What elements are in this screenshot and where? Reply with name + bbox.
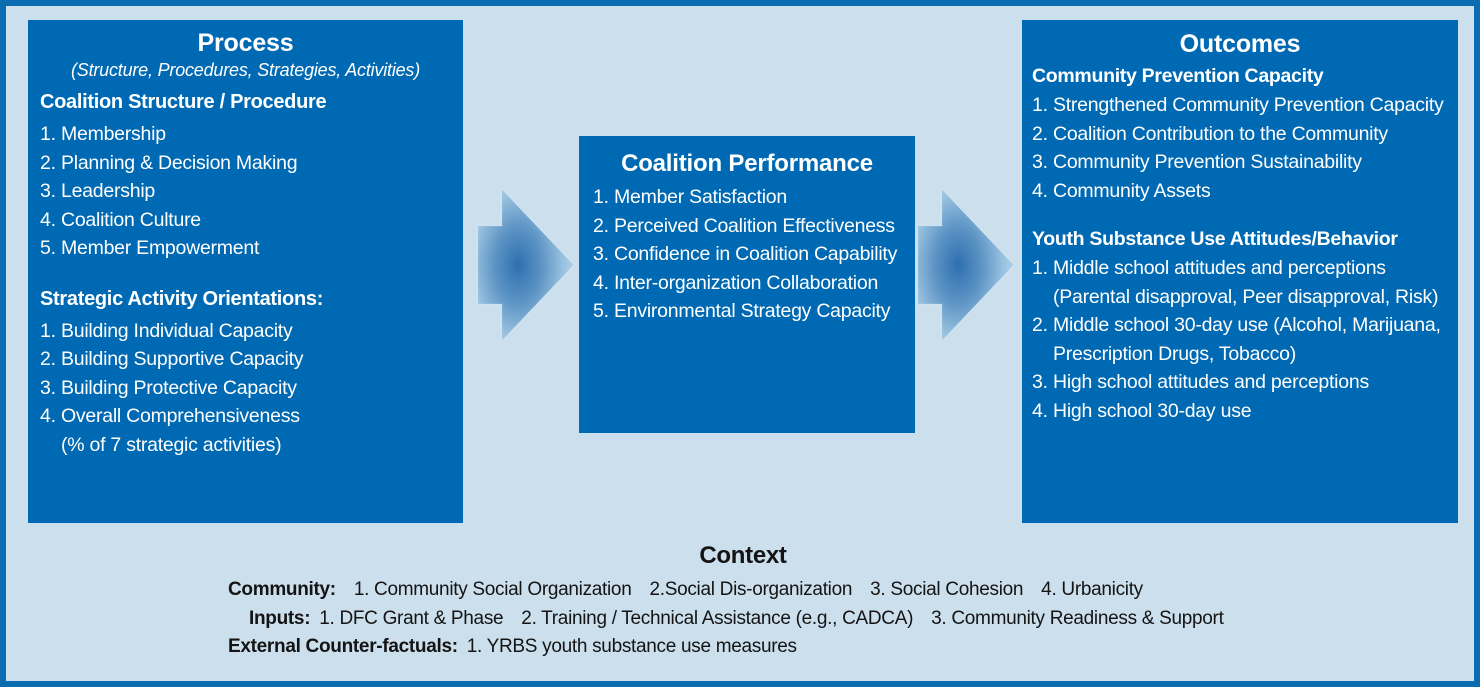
list-text: Environmental Strategy Capacity — [614, 297, 907, 326]
strategic-activity-heading: Strategic Activity Orientations: — [40, 285, 453, 314]
context-item: 2.Social Dis-organization — [649, 579, 852, 600]
spacer — [1032, 205, 1452, 225]
list-text: Confidence in Coalition Capability — [614, 240, 907, 269]
list-number: 2. — [1032, 311, 1048, 340]
list-number: 1. — [1032, 91, 1048, 120]
community-prevention-capacity-heading: Community Prevention Capacity — [1032, 62, 1452, 90]
list-item: 4.High school 30-day use — [1032, 397, 1452, 426]
list-item: 1.Building Individual Capacity — [40, 317, 453, 346]
list-text: Middle school 30-day use (Alcohol, Marij… — [1053, 311, 1452, 368]
performance-to-outcomes-arrow — [914, 184, 1018, 346]
list-text: Building Supportive Capacity — [61, 345, 453, 374]
list-item: 3.High school attitudes and perceptions — [1032, 368, 1452, 397]
outcomes-title: Outcomes — [1022, 28, 1458, 60]
spacer — [40, 263, 453, 285]
context-rows: Community:1. Community Social Organizati… — [12, 576, 1474, 662]
process-body: Coalition Structure / Procedure 1.Member… — [28, 83, 463, 459]
list-item: 3.Community Prevention Sustainability — [1032, 148, 1452, 177]
arrow-right-icon — [474, 184, 578, 346]
list-number: 1. — [40, 120, 56, 149]
coalition-performance-list: 1.Member Satisfaction 2.Perceived Coalit… — [593, 183, 907, 326]
context-item: 4. Urbanicity — [1041, 579, 1143, 600]
list-item: 4.Overall Comprehensiveness (% of 7 stra… — [40, 402, 453, 459]
list-text: Community Prevention Sustainability — [1053, 148, 1452, 177]
list-number: 2. — [593, 212, 609, 241]
context-row-community: Community:1. Community Social Organizati… — [228, 576, 1474, 605]
list-text: Middle school attitudes and perceptions … — [1053, 254, 1452, 311]
list-item: 2.Building Supportive Capacity — [40, 345, 453, 374]
list-number: 3. — [1032, 148, 1048, 177]
context-row-label: External Counter-factuals: — [228, 636, 458, 657]
list-number: 5. — [40, 234, 56, 263]
list-number: 3. — [1032, 368, 1048, 397]
context-item: 2. Training / Technical Assistance (e.g.… — [521, 608, 913, 629]
list-item: 5.Member Empowerment — [40, 234, 453, 263]
context-title: Context — [12, 541, 1474, 571]
coalition-performance-title: Coalition Performance — [579, 148, 915, 180]
list-number: 1. — [40, 317, 56, 346]
context-section: Context Community:1. Community Social Or… — [12, 533, 1474, 681]
youth-substance-use-list: 1.Middle school attitudes and perception… — [1032, 254, 1452, 425]
list-item: 2.Coalition Contribution to the Communit… — [1032, 120, 1452, 149]
list-text: Leadership — [61, 177, 453, 206]
list-text: Coalition Contribution to the Community — [1053, 120, 1452, 149]
context-row-external-counter-factuals: External Counter-factuals:1. YRBS youth … — [228, 633, 1474, 662]
coalition-structure-heading: Coalition Structure / Procedure — [40, 88, 453, 117]
youth-substance-use-heading: Youth Substance Use Attitudes/Behavior — [1032, 225, 1452, 253]
list-item: 1.Strengthened Community Prevention Capa… — [1032, 91, 1452, 120]
list-text: High school attitudes and perceptions — [1053, 368, 1452, 397]
process-panel: Process (Structure, Procedures, Strategi… — [28, 20, 463, 523]
list-number: 2. — [40, 149, 56, 178]
list-item: 3.Confidence in Coalition Capability — [593, 240, 907, 269]
context-row-inputs: Inputs:1. DFC Grant & Phase2. Training /… — [228, 605, 1474, 634]
list-number: 5. — [593, 297, 609, 326]
list-text: Planning & Decision Making — [61, 149, 453, 178]
coalition-performance-panel: Coalition Performance 1.Member Satisfact… — [579, 136, 915, 433]
context-item: 1. Community Social Organization — [354, 579, 632, 600]
coalition-performance-body: 1.Member Satisfaction 2.Perceived Coalit… — [579, 180, 915, 326]
list-item: 2.Middle school 30-day use (Alcohol, Mar… — [1032, 311, 1452, 368]
list-number: 1. — [1032, 254, 1048, 283]
process-subtitle: (Structure, Procedures, Strategies, Acti… — [28, 58, 463, 83]
context-item: 3. Social Cohesion — [870, 579, 1023, 600]
outcomes-body: Community Prevention Capacity 1.Strength… — [1022, 60, 1458, 425]
list-number: 3. — [40, 177, 56, 206]
arrow-right-icon — [914, 184, 1018, 346]
list-text: Building Protective Capacity — [61, 374, 453, 403]
list-text: Membership — [61, 120, 453, 149]
list-text: Member Empowerment — [61, 234, 453, 263]
list-text: High school 30-day use — [1053, 397, 1452, 426]
list-number: 1. — [593, 183, 609, 212]
outcomes-panel: Outcomes Community Prevention Capacity 1… — [1022, 20, 1458, 523]
list-number: 4. — [40, 206, 56, 235]
context-item: 1. YRBS youth substance use measures — [467, 636, 797, 657]
list-item: 4.Community Assets — [1032, 177, 1452, 206]
list-text: Overall Comprehensiveness (% of 7 strate… — [61, 402, 453, 459]
context-item: 3. Community Readiness & Support — [931, 608, 1223, 629]
list-item: 1.Membership — [40, 120, 453, 149]
list-text: Inter-organization Collaboration — [614, 269, 907, 298]
list-item: 3.Building Protective Capacity — [40, 374, 453, 403]
list-text: Perceived Coalition Effectiveness — [614, 212, 907, 241]
process-title: Process — [28, 28, 463, 58]
list-number: 2. — [40, 345, 56, 374]
coalition-structure-list: 1.Membership 2.Planning & Decision Makin… — [40, 120, 453, 263]
list-item: 2.Planning & Decision Making — [40, 149, 453, 178]
list-text: Building Individual Capacity — [61, 317, 453, 346]
diagram-canvas: Process (Structure, Procedures, Strategi… — [6, 6, 1474, 681]
list-number: 3. — [593, 240, 609, 269]
strategic-activity-list: 1.Building Individual Capacity 2.Buildin… — [40, 317, 453, 460]
list-number: 4. — [1032, 177, 1048, 206]
context-item: 1. DFC Grant & Phase — [319, 608, 503, 629]
diagram-outer-frame: Process (Structure, Procedures, Strategi… — [0, 0, 1480, 687]
list-text: Member Satisfaction — [614, 183, 907, 212]
list-item: 1.Member Satisfaction — [593, 183, 907, 212]
community-prevention-capacity-list: 1.Strengthened Community Prevention Capa… — [1032, 91, 1452, 205]
list-number: 4. — [1032, 397, 1048, 426]
list-item: 4.Inter-organization Collaboration — [593, 269, 907, 298]
list-number: 4. — [40, 402, 56, 431]
list-item: 1.Middle school attitudes and perception… — [1032, 254, 1452, 311]
list-number: 3. — [40, 374, 56, 403]
context-row-label: Inputs: — [249, 608, 310, 629]
process-to-performance-arrow — [474, 184, 578, 346]
list-text: Coalition Culture — [61, 206, 453, 235]
list-item: 4.Coalition Culture — [40, 206, 453, 235]
context-row-label: Community: — [228, 579, 336, 600]
list-item: 2.Perceived Coalition Effectiveness — [593, 212, 907, 241]
list-item: 5.Environmental Strategy Capacity — [593, 297, 907, 326]
list-text: Strengthened Community Prevention Capaci… — [1053, 91, 1452, 120]
list-text: Community Assets — [1053, 177, 1452, 206]
list-number: 2. — [1032, 120, 1048, 149]
list-number: 4. — [593, 269, 609, 298]
list-item: 3.Leadership — [40, 177, 453, 206]
